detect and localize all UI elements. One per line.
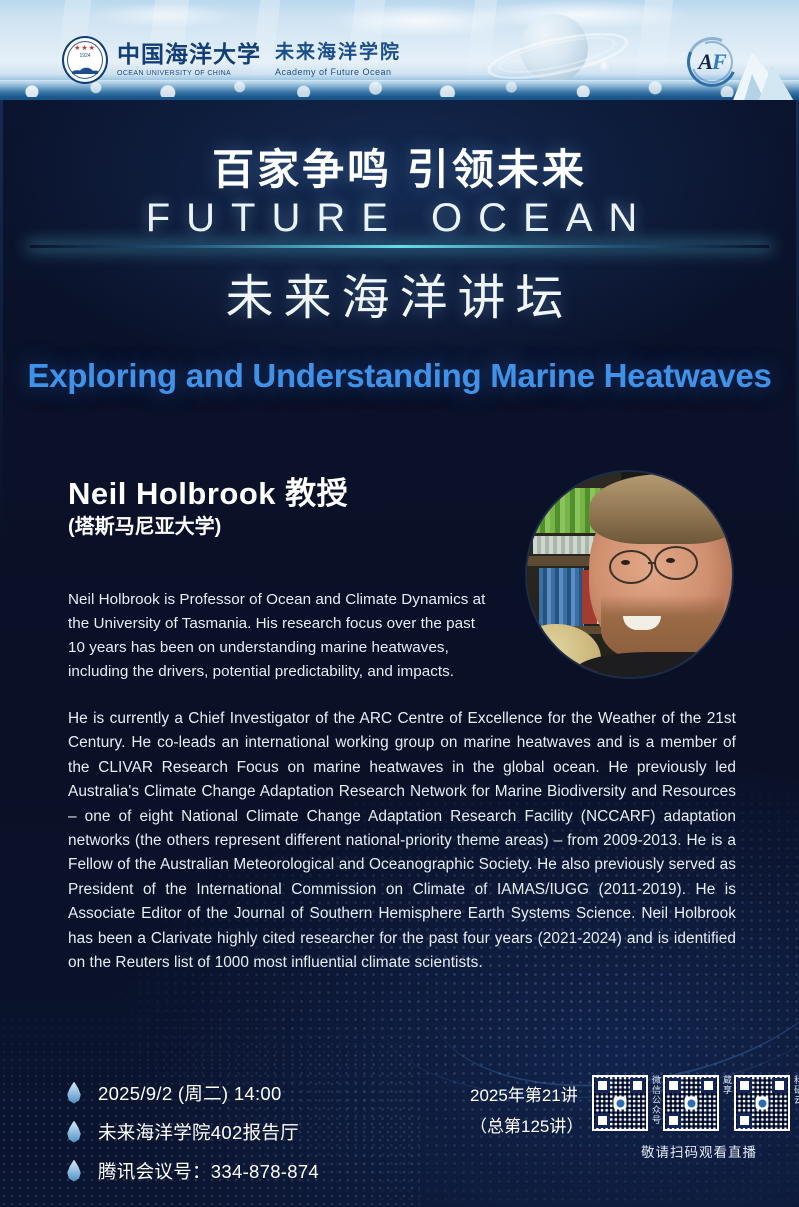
- speaker-bio-column: Neil Holbrook is Professor of Ocean and …: [68, 588, 488, 684]
- event-venue: 未来海洋学院402报告厅: [98, 1119, 299, 1145]
- qr-item-keyanyun[interactable]: 科研云: [734, 1075, 799, 1131]
- speaker-name: Neil Holbrook 教授: [68, 468, 348, 513]
- academy-name-cn: 未来海洋学院: [275, 43, 401, 64]
- water-drop-icon: [66, 1121, 82, 1143]
- qr-code-cangxiang-icon[interactable]: [663, 1075, 719, 1131]
- qr-item-cangxiang[interactable]: 蔵享: [663, 1075, 734, 1131]
- qr-code-wechat-icon[interactable]: [592, 1075, 648, 1131]
- scan-livestream-tip: 敬请扫码观看直播: [604, 1141, 794, 1161]
- info-row-datetime: 2025/9/2 (周二) 14:00: [66, 1073, 319, 1112]
- af-letter-a: A: [698, 49, 712, 75]
- lecture-series-number: 2025年第21讲 （总第125讲）: [470, 1080, 583, 1142]
- seal-wave-icon: [72, 62, 98, 74]
- info-row-meeting: 腾讯会议号：334-878-874: [66, 1151, 319, 1190]
- series-line-1: 2025年第21讲: [470, 1080, 583, 1111]
- moonlet-graphic: [600, 62, 611, 73]
- speaker-bio-full: He is currently a Chief Investigator of …: [68, 707, 736, 975]
- speaker-portrait: [527, 472, 732, 677]
- water-drop-icon: [66, 1160, 82, 1182]
- qr-label-cangxiang: 蔵享: [722, 1075, 731, 1131]
- qr-label-keyanyun: 科研云: [793, 1075, 799, 1131]
- series-line-2: （总第125讲）: [470, 1111, 583, 1142]
- qr-item-wechat[interactable]: 微信公众号: [592, 1075, 663, 1131]
- qr-code-keyanyun-icon[interactable]: [734, 1075, 790, 1131]
- event-datetime: 2025/9/2 (周二) 14:00: [98, 1080, 282, 1106]
- ouc-logo: ★★★ 1924 中国海洋大学 OCEAN UNIVERSITY OF CHIN…: [62, 36, 401, 84]
- ouc-seal-icon: ★★★ 1924: [62, 36, 108, 84]
- poster-root: ★★★ 1924 中国海洋大学 OCEAN UNIVERSITY OF CHIN…: [0, 0, 799, 1207]
- af-letter-f: F: [712, 49, 726, 75]
- academy-name-en: Academy of Future Ocean: [275, 67, 401, 77]
- speaker-affiliation: (塔斯马尼亚大学): [68, 510, 221, 539]
- event-info-list: 2025/9/2 (周二) 14:00 未来海洋学院402报告厅 腾讯会议号：3…: [66, 1073, 319, 1190]
- seal-year: 1924: [79, 53, 90, 59]
- af-logo: AF: [687, 37, 737, 87]
- water-drop-icon: [66, 1082, 82, 1104]
- university-name-en: OCEAN UNIVERSITY OF CHINA: [117, 70, 261, 77]
- qr-label-wechat: 微信公众号: [651, 1075, 660, 1131]
- lecture-title: Exploring and Understanding Marine Heatw…: [0, 357, 799, 395]
- brand-title-en: FUTURE OCEAN: [0, 196, 799, 241]
- brand-title-cn: 未来海洋讲坛: [0, 258, 799, 328]
- glow-divider: [30, 245, 769, 248]
- university-name-cn: 中国海洋大学: [117, 43, 261, 67]
- qr-code-strip: 微信公众号 蔵享 科研云: [592, 1075, 799, 1131]
- slogan-text: 百家争鸣 引领未来: [0, 136, 799, 197]
- seal-stars: ★★★: [74, 44, 96, 52]
- event-meeting-id: 腾讯会议号：334-878-874: [98, 1158, 319, 1184]
- af-logo-text: AF: [687, 37, 737, 87]
- info-row-venue: 未来海洋学院402报告厅: [66, 1112, 319, 1151]
